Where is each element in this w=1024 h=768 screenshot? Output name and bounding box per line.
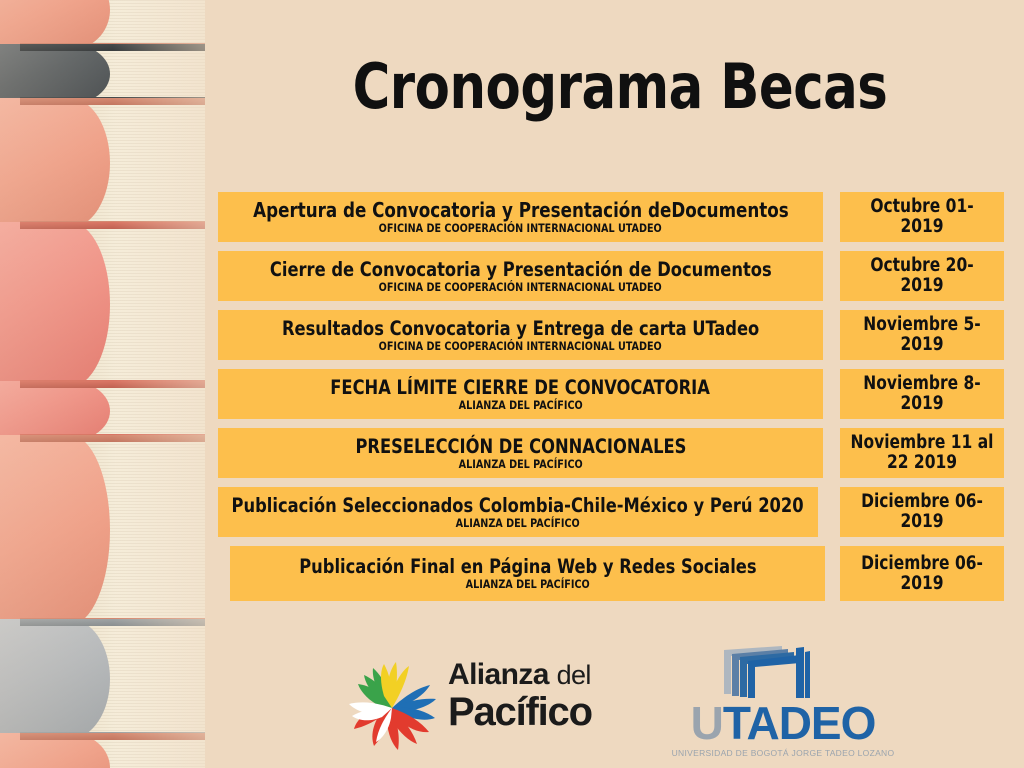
date-cell: Octubre 20-2019 xyxy=(840,251,1004,301)
alianza-wordmark: Alianza del Pacífico xyxy=(448,659,638,733)
event-cell: Resultados Convocatoria y Entrega de car… xyxy=(218,310,823,360)
event-title: Resultados Convocatoria y Entrega de car… xyxy=(282,318,759,339)
table-row: FECHA LÍMITE CIERRE DE CONVOCATORIA ALIA… xyxy=(218,369,1008,419)
event-title: Publicación Final en Página Web y Redes … xyxy=(299,556,756,577)
date-text: Octubre 20-2019 xyxy=(849,256,994,296)
table-row: Cierre de Convocatoria y Presentación de… xyxy=(218,251,1008,301)
date-text: Noviembre 5-2019 xyxy=(849,315,994,355)
event-organization: OFICINA DE COOPERACIÓN INTERNACIONAL UTA… xyxy=(379,222,662,235)
event-title: Apertura de Convocatoria y Presentación … xyxy=(253,200,789,221)
event-organization: ALIANZA DEL PACÍFICO xyxy=(458,458,582,471)
utadeo-letters-tadeo: TADEO xyxy=(723,697,876,749)
date-text: Noviembre 8-2019 xyxy=(849,374,994,414)
table-row: Publicación Final en Página Web y Redes … xyxy=(218,546,1008,601)
date-text: Octubre 01-2019 xyxy=(849,197,994,237)
date-cell: Noviembre 8-2019 xyxy=(840,369,1004,419)
table-row: PRESELECCIÓN DE CONNACIONALES ALIANZA DE… xyxy=(218,428,1008,478)
event-cell: Publicación Seleccionados Colombia-Chile… xyxy=(218,487,818,537)
logo-bar: Alianza del Pacífico UTADEO UNIVERSIDAD … xyxy=(218,640,1008,768)
event-cell: Apertura de Convocatoria y Presentación … xyxy=(218,192,823,242)
date-cell: Octubre 01-2019 xyxy=(840,192,1004,242)
alianza-word-light: del xyxy=(557,660,591,690)
event-title: FECHA LÍMITE CIERRE DE CONVOCATORIA xyxy=(331,377,711,398)
utadeo-wordmark: UTADEO xyxy=(658,699,908,747)
books-photo-strip xyxy=(0,0,205,768)
utadeo-tagline: UNIVERSIDAD DE BOGOTÁ JORGE TADEO LOZANO xyxy=(658,748,908,758)
event-organization: ALIANZA DEL PACÍFICO xyxy=(458,399,582,412)
event-cell: FECHA LÍMITE CIERRE DE CONVOCATORIA ALIA… xyxy=(218,369,823,419)
event-organization: OFICINA DE COOPERACIÓN INTERNACIONAL UTA… xyxy=(379,281,662,294)
utadeo-letter-u: U xyxy=(691,697,723,749)
utadeo-bracket-icon xyxy=(718,644,814,700)
page-title: Cronograma Becas xyxy=(261,52,979,122)
date-cell: Noviembre 11 al 22 2019 xyxy=(840,428,1004,478)
schedule-table: Apertura de Convocatoria y Presentación … xyxy=(218,192,1008,601)
event-title: PRESELECCIÓN DE CONNACIONALES xyxy=(355,436,686,457)
date-cell: Diciembre 06-2019 xyxy=(840,487,1004,537)
event-organization: ALIANZA DEL PACÍFICO xyxy=(456,517,580,530)
event-organization: OFICINA DE COOPERACIÓN INTERNACIONAL UTA… xyxy=(379,340,662,353)
alianza-del-pacifico-logo: Alianza del Pacífico xyxy=(336,646,636,758)
table-row: Publicación Seleccionados Colombia-Chile… xyxy=(218,487,1008,537)
event-title: Publicación Seleccionados Colombia-Chile… xyxy=(232,495,804,516)
event-cell: Cierre de Convocatoria y Presentación de… xyxy=(218,251,823,301)
date-text: Noviembre 11 al 22 2019 xyxy=(849,433,994,473)
utadeo-logo: UTADEO UNIVERSIDAD DE BOGOTÁ JORGE TADEO… xyxy=(658,644,908,764)
pacifico-word: Pacífico xyxy=(448,691,638,733)
date-cell: Diciembre 06-2019 xyxy=(840,546,1004,601)
date-cell: Noviembre 5-2019 xyxy=(840,310,1004,360)
table-row: Resultados Convocatoria y Entrega de car… xyxy=(218,310,1008,360)
event-cell: PRESELECCIÓN DE CONNACIONALES ALIANZA DE… xyxy=(218,428,823,478)
date-text: Diciembre 06-2019 xyxy=(849,492,994,532)
slide-canvas: Cronograma Becas Apertura de Convocatori… xyxy=(0,0,1024,768)
date-text: Diciembre 06-2019 xyxy=(849,554,994,594)
alianza-word-bold: Alianza xyxy=(448,658,549,691)
pinwheel-icon xyxy=(336,646,448,758)
event-title: Cierre de Convocatoria y Presentación de… xyxy=(270,259,772,280)
table-row: Apertura de Convocatoria y Presentación … xyxy=(218,192,1008,242)
event-organization: ALIANZA DEL PACÍFICO xyxy=(465,578,589,591)
event-cell: Publicación Final en Página Web y Redes … xyxy=(230,546,825,601)
